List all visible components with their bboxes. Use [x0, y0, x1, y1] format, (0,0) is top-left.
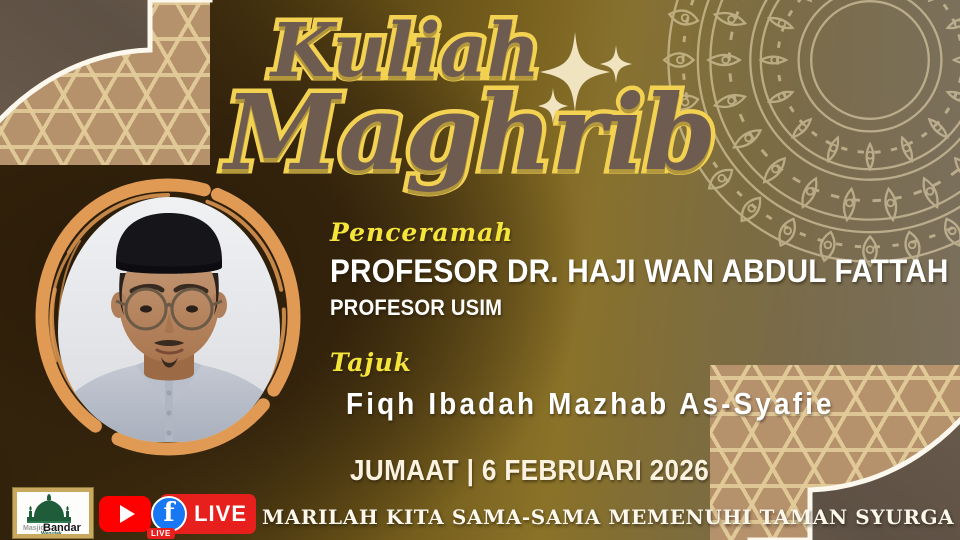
speaker-photo-block [28, 175, 308, 460]
topic-label: Tajuk [330, 348, 910, 377]
youtube-play-icon[interactable] [99, 496, 151, 532]
facebook-letter: f [163, 500, 174, 526]
speaker-affiliation: PROFESOR USIM [330, 295, 864, 321]
sparkle-icon [600, 45, 632, 83]
play-triangle-icon [120, 505, 135, 523]
topic-title: Fiqh Ibadah Mazhab As-Syafie [346, 386, 854, 422]
sparkle-icon [538, 88, 568, 124]
speaker-name: PROFESOR DR. HAJI WAN ABDUL FATTAH [330, 253, 869, 290]
facebook-live-badge[interactable]: f LIVE LIVE [160, 494, 256, 534]
mosque-logo: Masjid Bandar Wenutak [13, 488, 93, 538]
poster-tagline: MARILAH KITA SAMA-SAMA MEMENUHI TAMAN SY… [262, 505, 954, 529]
facebook-live-label: LIVE [194, 501, 247, 527]
facebook-f-icon: f LIVE [151, 496, 187, 532]
facebook-live-tag: LIVE [147, 528, 175, 539]
corner-band-decoration [0, 0, 290, 192]
event-date: JUMAAT | 6 FEBRUARI 2026 [350, 455, 854, 488]
logo-suffix-text: Wenutak [41, 531, 62, 535]
speaker-label: Penceramah [330, 218, 910, 247]
kuliah-maghrib-poster: Kuliah Maghrib [0, 0, 960, 540]
poster-info-block: Penceramah PROFESOR DR. HAJI WAN ABDUL F… [330, 218, 910, 488]
